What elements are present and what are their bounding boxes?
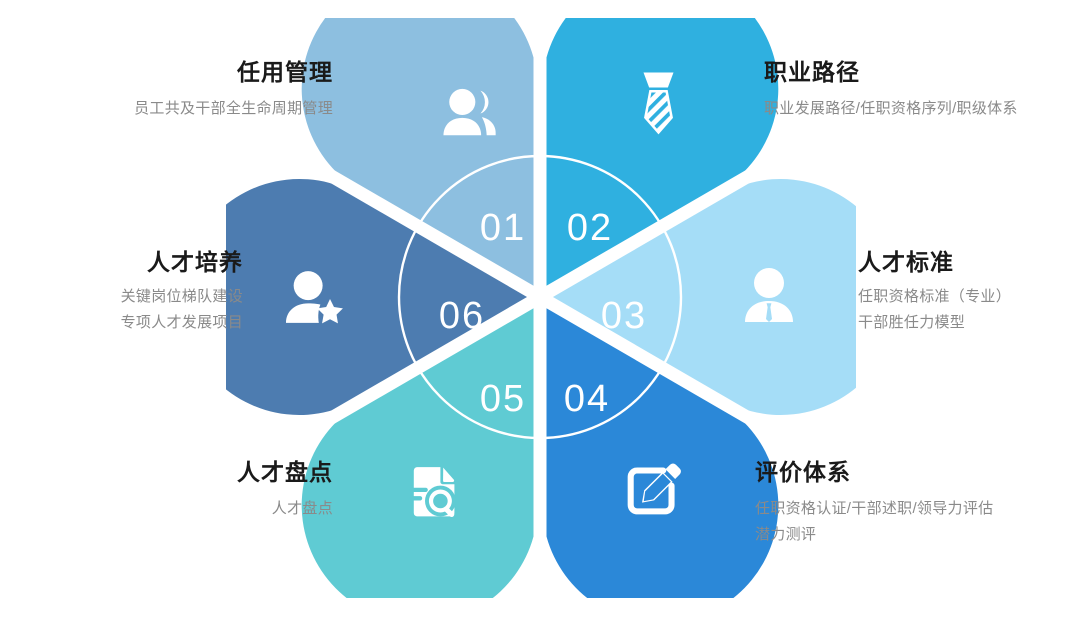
label-title-05: 人才盘点 (237, 458, 333, 487)
label-subtitle-01-line-1: 员工共及干部全生命周期管理 (134, 96, 333, 122)
label-block-04[interactable]: 评价体系 任职资格认证/干部述职/领导力评估 潜力测评 (755, 458, 993, 548)
label-subtitle-03-line-2: 干部胜任力模型 (858, 310, 1011, 336)
label-block-01[interactable]: 任用管理 员工共及干部全生命周期管理 (134, 58, 333, 122)
document-search-icon (410, 467, 456, 518)
petal-number-02: 02 (567, 207, 613, 249)
petal-number-01: 01 (480, 207, 526, 249)
petal-number-03: 03 (601, 295, 647, 337)
label-subtitle-04-line-2: 潜力测评 (755, 522, 993, 548)
label-subtitle-03-line-1: 任职资格标准（专业） (858, 284, 1011, 310)
label-subtitle-06-line-1: 关键岗位梯队建设 (121, 284, 243, 310)
label-title-02: 职业路径 (764, 58, 1018, 87)
petal-number-06: 06 (439, 295, 485, 337)
diagram-canvas: 01 02 03 04 05 06 (0, 0, 1081, 626)
label-title-04: 评价体系 (755, 458, 993, 487)
label-subtitle-05-line-1: 人才盘点 (237, 496, 333, 522)
label-title-03: 人才标准 (858, 248, 1011, 277)
label-block-03[interactable]: 人才标准 任职资格标准（专业） 干部胜任力模型 (858, 248, 1011, 336)
label-block-05[interactable]: 人才盘点 人才盘点 (237, 458, 333, 522)
petal-number-04: 04 (564, 378, 610, 420)
label-subtitle-04-line-1: 任职资格认证/干部述职/领导力评估 (755, 496, 993, 522)
label-block-02[interactable]: 职业路径 职业发展路径/任职资格序列/职级体系 (764, 58, 1018, 122)
label-title-01: 任用管理 (134, 58, 333, 87)
petal-number-05: 05 (480, 378, 526, 420)
label-block-06[interactable]: 人才培养 关键岗位梯队建设 专项人才发展项目 (121, 248, 243, 336)
label-subtitle-02-line-1: 职业发展路径/任职资格序列/职级体系 (764, 96, 1018, 122)
label-title-06: 人才培养 (121, 248, 243, 277)
label-subtitle-06-line-2: 专项人才发展项目 (121, 310, 243, 336)
